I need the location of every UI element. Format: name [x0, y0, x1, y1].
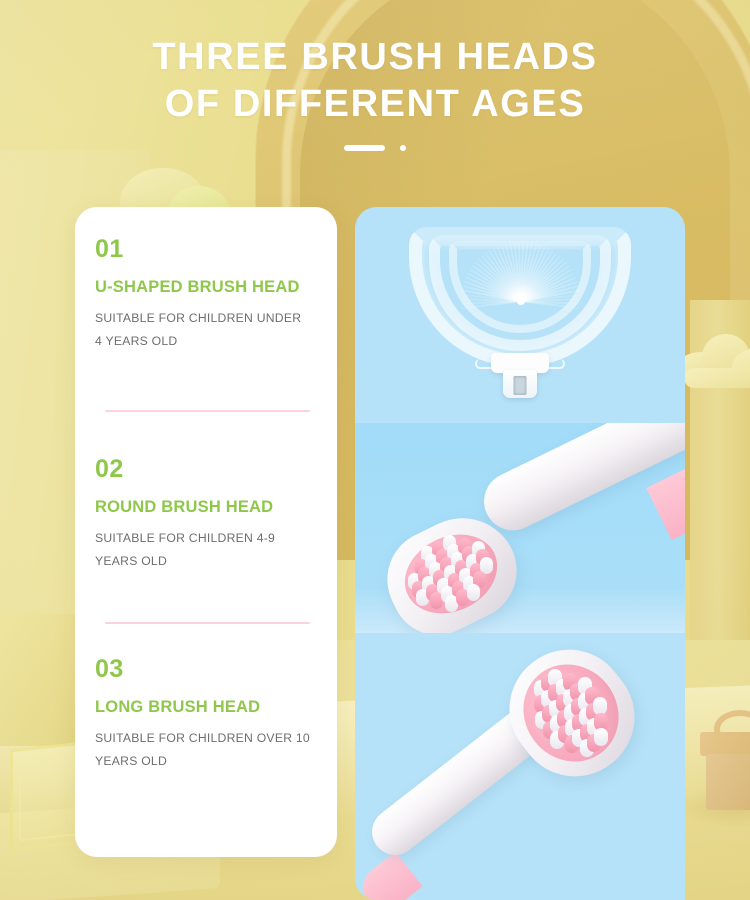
item-description: SUITABLE FOR CHILDREN UNDER 4 YEARS OLD	[95, 307, 311, 353]
item-separator	[105, 410, 310, 412]
item-number: 03	[95, 654, 317, 684]
item-title: U-SHAPED BRUSH HEAD	[95, 276, 317, 298]
item-separator	[105, 622, 310, 624]
page-title: THREE BRUSH HEADS OF DIFFERENT AGES	[0, 34, 750, 151]
list-item-02: 02 ROUND BRUSH HEAD SUITABLE FOR CHILDRE…	[95, 454, 317, 573]
item-number: 01	[95, 234, 317, 264]
infographic-stage: THREE BRUSH HEADS OF DIFFERENT AGES 01 U…	[0, 0, 750, 900]
cloud-icon	[676, 330, 750, 384]
long-brush-head-illustration	[355, 633, 685, 900]
u-shaped-brush-head-illustration	[409, 227, 631, 397]
dash-dot-divider-icon	[344, 145, 406, 151]
item-title: ROUND BRUSH HEAD	[95, 496, 317, 518]
features-card: 01 U-SHAPED BRUSH HEAD SUITABLE FOR CHIL…	[75, 207, 337, 857]
item-description: SUITABLE FOR CHILDREN 4-9 YEARS OLD	[95, 527, 311, 573]
title-line-2: OF DIFFERENT AGES	[0, 81, 750, 128]
item-title: LONG BRUSH HEAD	[95, 696, 317, 718]
product-photo-panel	[355, 207, 685, 900]
item-description: SUITABLE FOR CHILDREN OVER 10 YEARS OLD	[95, 727, 311, 773]
product-photo-u-shaped	[355, 207, 685, 423]
product-photo-round	[355, 423, 685, 633]
gift-box-icon	[700, 718, 750, 800]
round-brush-head-illustration	[359, 423, 685, 633]
item-number: 02	[95, 454, 317, 484]
list-item-01: 01 U-SHAPED BRUSH HEAD SUITABLE FOR CHIL…	[95, 234, 317, 353]
product-photo-long	[355, 633, 685, 900]
list-item-03: 03 LONG BRUSH HEAD SUITABLE FOR CHILDREN…	[95, 654, 317, 773]
title-line-1: THREE BRUSH HEADS	[0, 34, 750, 81]
